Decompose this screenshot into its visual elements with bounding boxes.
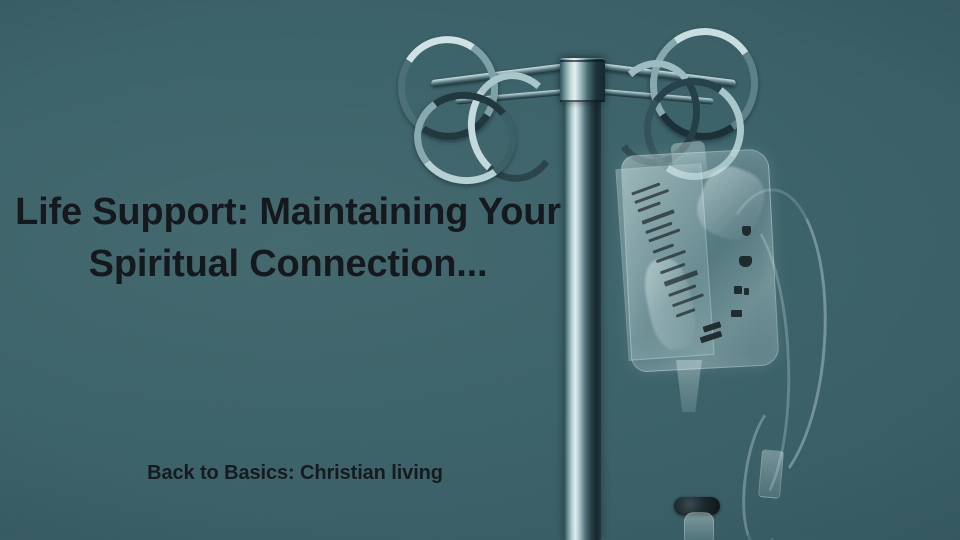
title-block: Life Support: Maintaining Your Spiritual… bbox=[8, 186, 568, 291]
subtitle-block: Back to Basics: Christian living bbox=[8, 460, 582, 486]
title-line-1: Life Support: Maintaining Your bbox=[8, 186, 568, 238]
subtitle: Back to Basics: Christian living bbox=[8, 460, 582, 486]
title-line-2: Spiritual Connection... bbox=[8, 238, 568, 290]
title-card-canvas: Life Support: Maintaining Your Spiritual… bbox=[0, 0, 960, 540]
